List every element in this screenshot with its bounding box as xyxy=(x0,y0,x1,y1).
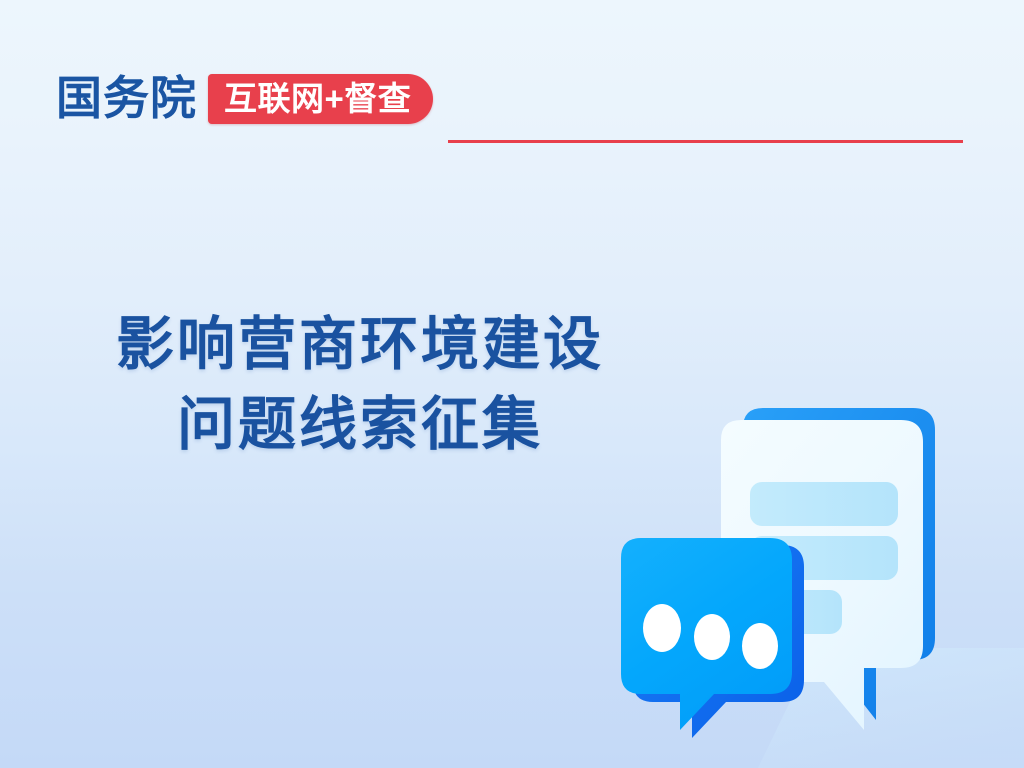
typing-dot-3 xyxy=(742,623,778,669)
typing-dot-2 xyxy=(694,614,730,660)
speech-bubbles-illustration xyxy=(608,390,1024,768)
program-badge: 互联网+督查 xyxy=(208,74,433,124)
org-name: 国务院 xyxy=(56,70,197,126)
front-bubble xyxy=(621,538,804,738)
page-title-line-1: 影响营商环境建设 xyxy=(0,305,720,385)
program-badge-label: 互联网+督查 xyxy=(224,79,411,119)
speech-bubbles-graphic xyxy=(608,390,1024,768)
header-divider-rule xyxy=(448,140,963,143)
poster-canvas: 国务院 互联网+督查 影响营商环境建设 问题线索征集 xyxy=(0,0,1024,768)
back-bubble-text-line-1 xyxy=(750,482,898,526)
header: 国务院 互联网+督查 xyxy=(0,70,1024,142)
typing-dot-1 xyxy=(643,604,681,652)
